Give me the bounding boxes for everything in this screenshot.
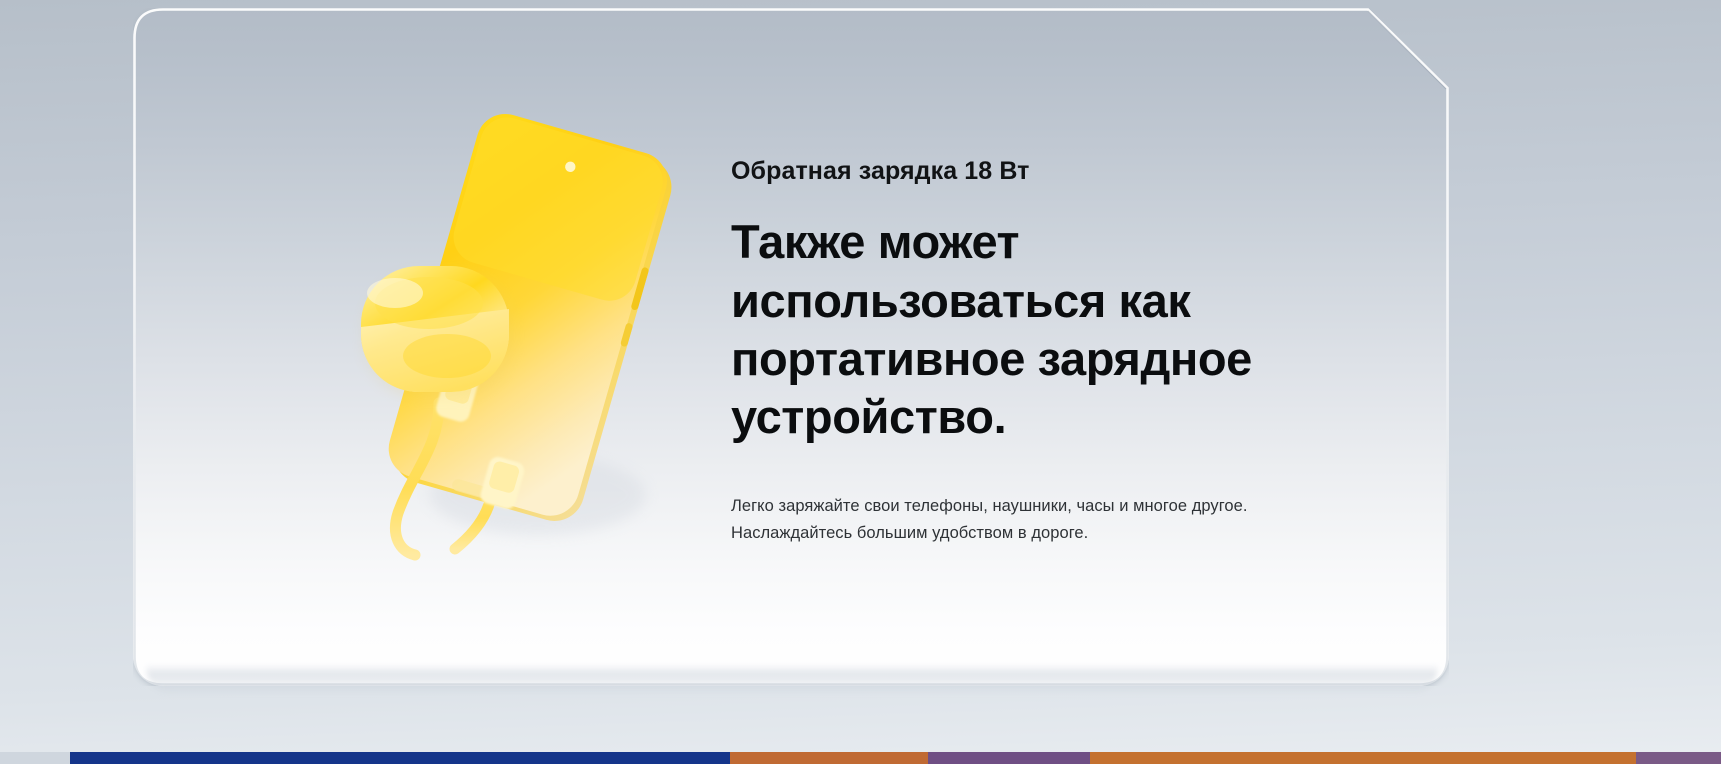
strip-segment-grey <box>0 752 70 764</box>
card-drop-shadow <box>146 664 1438 694</box>
page-title: Также может использоваться как портативн… <box>731 213 1331 446</box>
copy-block: Обратная зарядка 18 Вт Также может испол… <box>731 156 1431 547</box>
page-background: Обратная зарядка 18 Вт Также может испол… <box>0 0 1721 764</box>
strip-segment-orange-2 <box>1090 752 1636 764</box>
earbuds-case <box>361 266 513 397</box>
feature-card: Обратная зарядка 18 Вт Также может испол… <box>133 8 1449 686</box>
eyebrow-text: Обратная зарядка 18 Вт <box>731 156 1431 187</box>
product-image <box>343 103 713 563</box>
strip-segment-purple <box>928 752 1090 764</box>
strip-segment-purple-2 <box>1636 752 1721 764</box>
strip-segment-navy <box>70 752 730 764</box>
body-text: Легко заряжайте свои телефоны, наушники,… <box>731 493 1351 546</box>
bottom-color-strip <box>0 752 1721 764</box>
strip-segment-orange <box>730 752 928 764</box>
